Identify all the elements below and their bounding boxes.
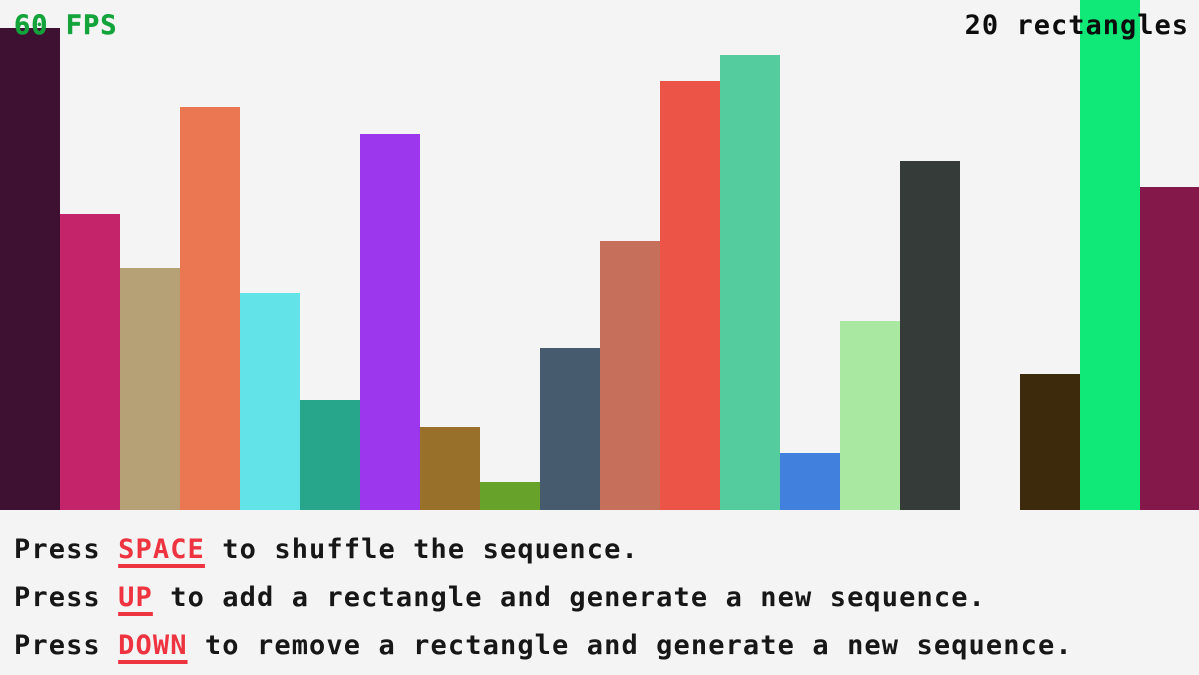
instruction-prefix: Press <box>14 582 118 613</box>
chart-bar <box>300 400 360 510</box>
instruction-line-add: Press UP to add a rectangle and generate… <box>14 574 1199 622</box>
chart-bar <box>0 28 60 510</box>
chart-bar <box>420 427 480 510</box>
chart-bar <box>480 482 540 510</box>
instruction-line-shuffle: Press SPACE to shuffle the sequence. <box>14 526 1199 574</box>
chart-bar <box>720 55 780 510</box>
chart-bar <box>780 453 840 510</box>
key-space[interactable]: SPACE <box>118 534 205 565</box>
chart-bar <box>900 161 960 510</box>
key-up[interactable]: UP <box>118 582 153 613</box>
chart-bar <box>600 241 660 510</box>
app-root: 60 FPS 20 rectangles Press SPACE to shuf… <box>0 0 1199 675</box>
instruction-suffix: to add a rectangle and generate a new se… <box>153 582 986 613</box>
chart-bar <box>60 214 120 510</box>
fps-counter: 60 FPS <box>14 10 118 41</box>
instruction-prefix: Press <box>14 630 118 661</box>
chart-bar <box>1020 374 1080 510</box>
instruction-line-remove: Press DOWN to remove a rectangle and gen… <box>14 622 1199 670</box>
bar-chart <box>0 0 1199 510</box>
chart-bar <box>240 293 300 510</box>
chart-bar <box>1140 187 1199 510</box>
chart-bar <box>180 107 240 510</box>
chart-bar <box>1080 0 1140 510</box>
chart-bar <box>540 348 600 510</box>
instruction-prefix: Press <box>14 534 118 565</box>
chart-bar <box>840 321 900 510</box>
instructions-panel: Press SPACE to shuffle the sequence. Pre… <box>0 512 1199 675</box>
instruction-suffix: to shuffle the sequence. <box>205 534 639 565</box>
key-down[interactable]: DOWN <box>118 630 187 661</box>
chart-bar <box>660 81 720 510</box>
chart-bar <box>120 268 180 510</box>
rectangle-count-label: 20 rectangles <box>965 10 1189 41</box>
chart-bar <box>360 134 420 510</box>
instruction-suffix: to remove a rectangle and generate a new… <box>188 630 1073 661</box>
